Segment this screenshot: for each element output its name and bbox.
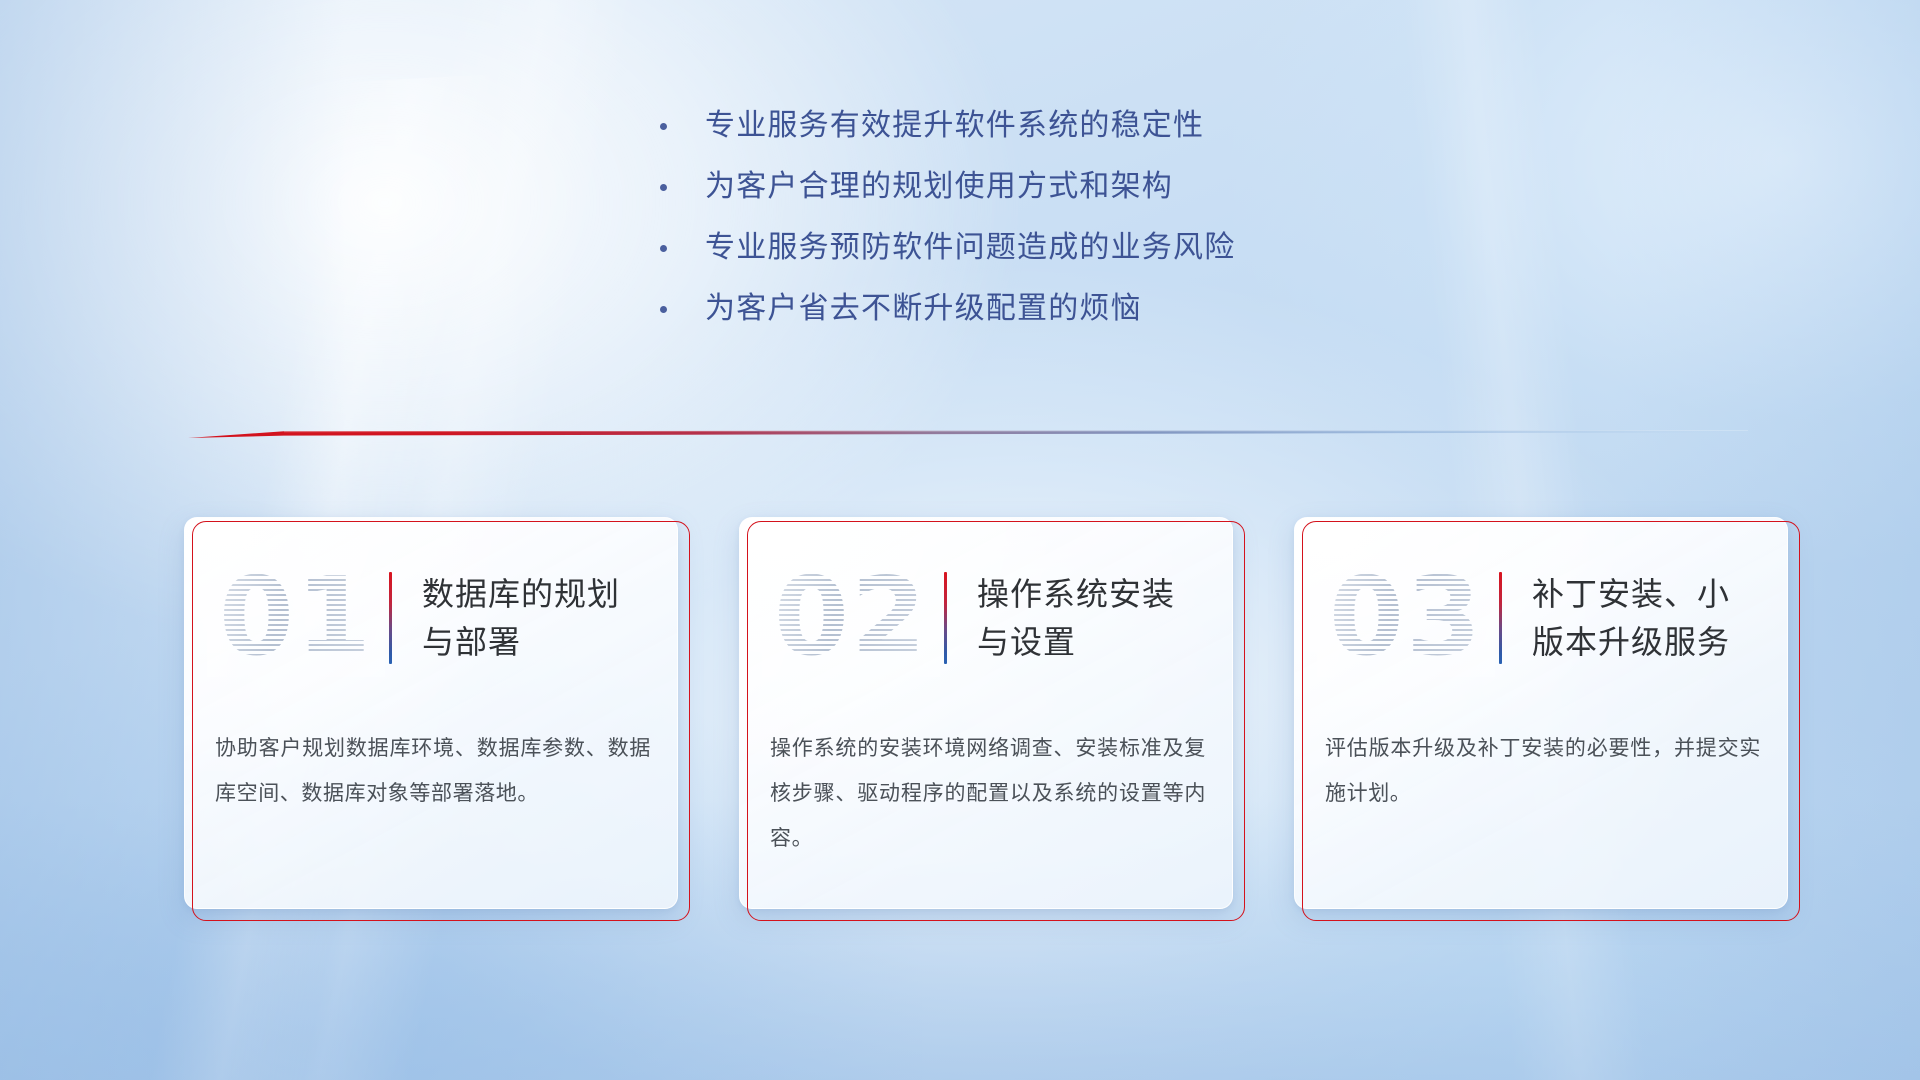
card-description: 评估版本升级及补丁安装的必要性，并提交实施计划。 bbox=[1325, 726, 1761, 816]
card-number-watermark: 02 bbox=[762, 559, 940, 677]
card-header: 03 补丁安装、小 版本升级服务 bbox=[1295, 558, 1787, 678]
bullet-dot-icon bbox=[660, 123, 667, 130]
card-number-text: 02 bbox=[774, 559, 928, 677]
card-title-line-2: 版本升级服务 bbox=[1532, 618, 1730, 666]
card-number-text: 03 bbox=[1329, 559, 1483, 677]
card-number-watermark: 01 bbox=[207, 559, 385, 677]
card-title: 操作系统安装 与设置 bbox=[977, 570, 1175, 666]
title-accent-bar bbox=[389, 572, 392, 664]
service-card-01[interactable]: 01 数据库的规划 与部署 协助客户规划数据库环境、数据库参数、数据库空间、数据… bbox=[184, 517, 682, 917]
service-card-02[interactable]: 02 操作系统安装 与设置 操作系统的安装环境网络调查、安装标准及复核步骤、驱动… bbox=[739, 517, 1237, 917]
card-surface: 01 数据库的规划 与部署 协助客户规划数据库环境、数据库参数、数据库空间、数据… bbox=[184, 517, 678, 909]
card-number-text: 01 bbox=[219, 559, 373, 677]
card-description: 操作系统的安装环境网络调查、安装标准及复核步骤、驱动程序的配置以及系统的设置等内… bbox=[770, 726, 1206, 861]
bullet-dot-icon bbox=[660, 245, 667, 252]
card-title-line-1: 数据库的规划 bbox=[422, 570, 620, 618]
card-description: 协助客户规划数据库环境、数据库参数、数据库空间、数据库对象等部署落地。 bbox=[215, 726, 651, 816]
card-title-line-1: 操作系统安装 bbox=[977, 570, 1175, 618]
bullet-text: 为客户省去不断升级配置的烦恼 bbox=[705, 289, 1142, 329]
bullet-dot-icon bbox=[660, 306, 667, 313]
card-title-line-1: 补丁安装、小 bbox=[1532, 570, 1730, 618]
card-header: 02 操作系统安装 与设置 bbox=[740, 558, 1232, 678]
card-surface: 03 补丁安装、小 版本升级服务 评估版本升级及补丁安装的必要性，并提交实施计划… bbox=[1294, 517, 1788, 909]
bullet-text: 专业服务有效提升软件系统的稳定性 bbox=[705, 106, 1204, 146]
title-accent-bar bbox=[1499, 572, 1502, 664]
list-item: 为客户合理的规划使用方式和架构 bbox=[660, 167, 1420, 207]
benefits-bullet-list: 专业服务有效提升软件系统的稳定性 为客户合理的规划使用方式和架构 专业服务预防软… bbox=[660, 106, 1420, 350]
card-title: 数据库的规划 与部署 bbox=[422, 570, 620, 666]
bullet-text: 专业服务预防软件问题造成的业务风险 bbox=[705, 228, 1235, 268]
card-surface: 02 操作系统安装 与设置 操作系统的安装环境网络调查、安装标准及复核步骤、驱动… bbox=[739, 517, 1233, 909]
card-number-watermark: 03 bbox=[1317, 559, 1495, 677]
bullet-text: 为客户合理的规划使用方式和架构 bbox=[705, 167, 1173, 207]
card-title-line-2: 与设置 bbox=[977, 618, 1175, 666]
card-title-line-2: 与部署 bbox=[422, 618, 620, 666]
divider-shape-icon bbox=[188, 424, 1748, 440]
section-divider bbox=[188, 424, 1748, 440]
bullet-dot-icon bbox=[660, 184, 667, 191]
title-accent-bar bbox=[944, 572, 947, 664]
card-title: 补丁安装、小 版本升级服务 bbox=[1532, 570, 1730, 666]
card-header: 01 数据库的规划 与部署 bbox=[185, 558, 677, 678]
service-card-03[interactable]: 03 补丁安装、小 版本升级服务 评估版本升级及补丁安装的必要性，并提交实施计划… bbox=[1294, 517, 1792, 917]
list-item: 专业服务有效提升软件系统的稳定性 bbox=[660, 106, 1420, 146]
service-card-list: 01 数据库的规划 与部署 协助客户规划数据库环境、数据库参数、数据库空间、数据… bbox=[184, 517, 1792, 917]
list-item: 专业服务预防软件问题造成的业务风险 bbox=[660, 228, 1420, 268]
list-item: 为客户省去不断升级配置的烦恼 bbox=[660, 289, 1420, 329]
